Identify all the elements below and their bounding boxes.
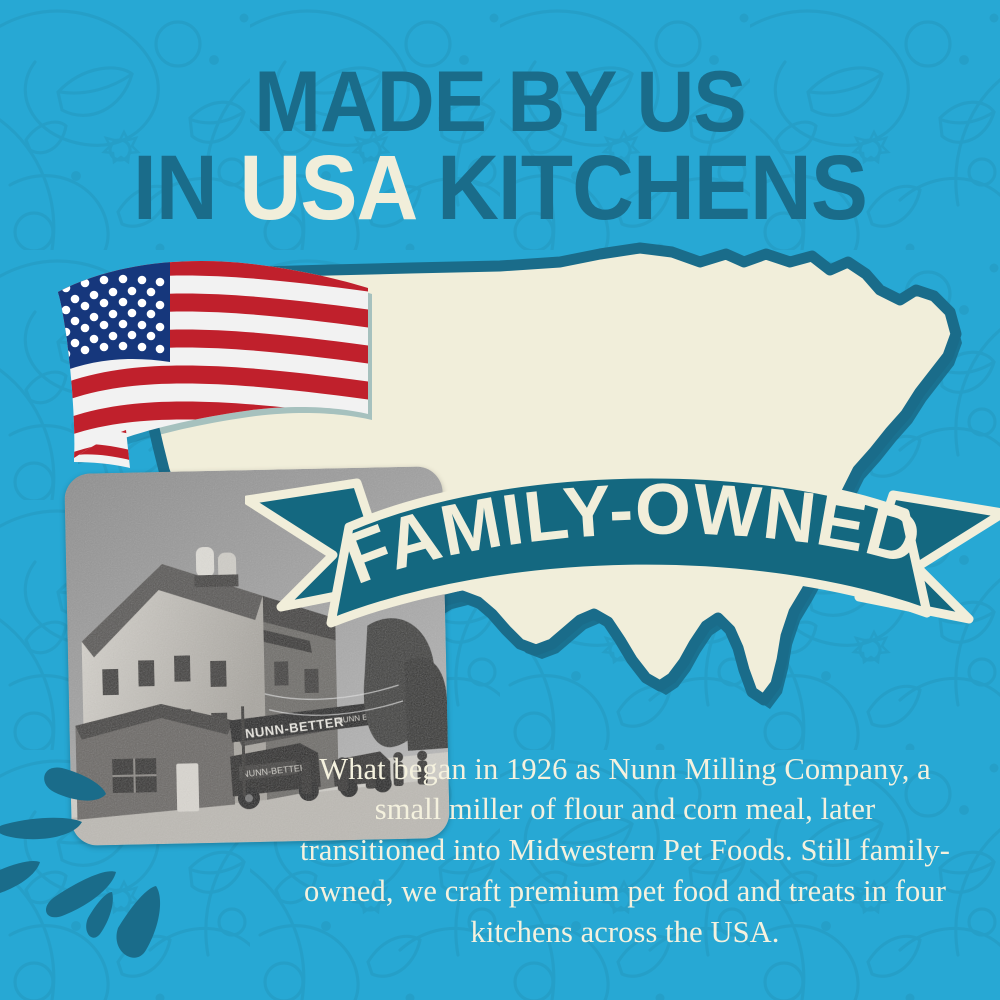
headline: MADE BY US IN USA KITCHENS	[0, 62, 1000, 231]
headline-line2-after: KITCHENS	[414, 137, 867, 239]
headline-line2-before: IN	[133, 137, 240, 239]
decorative-leaf-burst	[0, 740, 240, 1000]
headline-line-2: IN USA KITCHENS	[35, 145, 965, 231]
body-copy: What began in 1926 as Nunn Milling Compa…	[300, 749, 950, 953]
infographic-canvas: MADE BY US IN USA KITCHENS	[0, 0, 1000, 1000]
family-owned-ribbon: FAMILY-OWNED	[245, 455, 1000, 660]
headline-usa-highlight: USA	[240, 137, 415, 239]
usa-flag-icon	[52, 258, 372, 473]
headline-line-1: MADE BY US	[35, 62, 965, 143]
